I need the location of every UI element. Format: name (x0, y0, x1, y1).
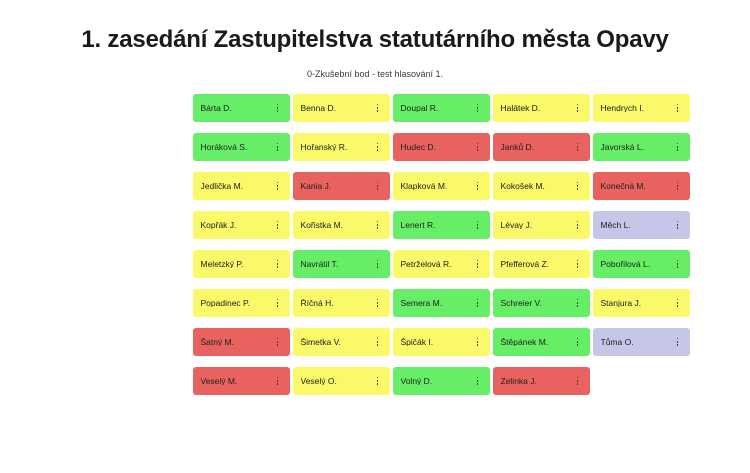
kebab-menu-icon[interactable] (273, 295, 283, 311)
kebab-menu-icon[interactable] (373, 334, 383, 350)
kebab-menu-icon[interactable] (373, 373, 383, 389)
agenda-item-subtitle: 0-Zkušební bod - test hlasování 1. (0, 55, 750, 79)
member-vote-card[interactable]: Špičák I. (393, 328, 490, 356)
member-name: Konečná M. (601, 182, 646, 191)
member-name: Kokošek M. (501, 182, 545, 191)
kebab-menu-icon[interactable] (573, 139, 583, 155)
kebab-menu-icon[interactable] (273, 256, 283, 272)
member-name: Pfefferová Z. (501, 260, 550, 269)
member-name: Benna D. (301, 104, 336, 113)
kebab-menu-icon[interactable] (473, 295, 483, 311)
member-name: Zelinka J. (501, 377, 537, 386)
member-vote-card[interactable]: Schreier V. (493, 289, 590, 317)
member-vote-card[interactable]: Halátek D. (493, 94, 590, 122)
member-vote-card[interactable]: Šatný M. (193, 328, 290, 356)
member-name: Štěpánek M. (501, 338, 549, 347)
member-name: Semera M. (401, 299, 443, 308)
member-vote-card[interactable]: Kania J. (293, 172, 390, 200)
kebab-menu-icon[interactable] (373, 139, 383, 155)
member-name: Kořistka M. (301, 221, 344, 230)
member-name: Klapková M. (401, 182, 448, 191)
member-name: Navrátil T. (301, 260, 339, 269)
member-name: Hudec D. (401, 143, 436, 152)
kebab-menu-icon[interactable] (273, 334, 283, 350)
member-vote-card[interactable]: Horáková S. (193, 133, 290, 161)
kebab-menu-icon[interactable] (673, 295, 683, 311)
member-vote-card[interactable]: Říčná H. (293, 289, 390, 317)
member-vote-card[interactable]: Semera M. (393, 289, 490, 317)
member-name: Lévay J. (501, 221, 533, 230)
kebab-menu-icon[interactable] (573, 256, 583, 272)
member-name: Jedlička M. (201, 182, 244, 191)
member-vote-card[interactable]: Benna D. (293, 94, 390, 122)
member-vote-card[interactable]: Doupal R. (393, 94, 490, 122)
member-vote-card[interactable]: Popadinec P. (193, 289, 290, 317)
kebab-menu-icon[interactable] (473, 256, 483, 272)
member-vote-card[interactable]: Kořistka M. (293, 211, 390, 239)
kebab-menu-icon[interactable] (673, 100, 683, 116)
member-vote-card[interactable]: Zelinka J. (493, 367, 590, 395)
kebab-menu-icon[interactable] (573, 295, 583, 311)
page-header: 1. zasedání Zastupitelstva statutárního … (0, 0, 750, 79)
member-vote-card[interactable]: Volný D. (393, 367, 490, 395)
page-title: 1. zasedání Zastupitelstva statutárního … (0, 26, 750, 55)
member-name: Janků D. (501, 143, 535, 152)
member-vote-card[interactable]: Meletzký P. (193, 250, 290, 278)
member-name: Halátek D. (501, 104, 541, 113)
kebab-menu-icon[interactable] (473, 373, 483, 389)
kebab-menu-icon[interactable] (473, 100, 483, 116)
member-vote-card[interactable]: Hudec D. (393, 133, 490, 161)
member-vote-card[interactable]: Klapková M. (393, 172, 490, 200)
member-name: Tůma O. (601, 338, 634, 347)
member-name: Kopřák J. (201, 221, 237, 230)
member-vote-card[interactable]: Stanjura J. (593, 289, 690, 317)
member-name: Hendrych I. (601, 104, 644, 113)
kebab-menu-icon[interactable] (573, 178, 583, 194)
kebab-menu-icon[interactable] (673, 217, 683, 233)
member-name: Volný D. (401, 377, 433, 386)
kebab-menu-icon[interactable] (473, 178, 483, 194)
member-vote-card[interactable]: Štěpánek M. (493, 328, 590, 356)
member-name: Schreier V. (501, 299, 542, 308)
member-vote-card[interactable]: Jedlička M. (193, 172, 290, 200)
kebab-menu-icon[interactable] (273, 100, 283, 116)
kebab-menu-icon[interactable] (273, 217, 283, 233)
member-vote-card[interactable]: Kokošek M. (493, 172, 590, 200)
kebab-menu-icon[interactable] (373, 100, 383, 116)
member-vote-card[interactable]: Bárta D. (193, 94, 290, 122)
voting-grid-wrapper: Bárta D.Benna D.Doupal R.Halátek D.Hendr… (0, 79, 750, 395)
member-vote-card[interactable]: Šimetka V. (293, 328, 390, 356)
kebab-menu-icon[interactable] (273, 139, 283, 155)
member-vote-card[interactable]: Měch L. (593, 211, 690, 239)
member-name: Lenert R. (401, 221, 436, 230)
member-vote-card[interactable]: Pfefferová Z. (493, 250, 590, 278)
member-vote-card[interactable]: Hořanský R. (293, 133, 390, 161)
member-vote-card[interactable]: Kopřák J. (193, 211, 290, 239)
kebab-menu-icon[interactable] (573, 217, 583, 233)
member-name: Stanjura J. (601, 299, 642, 308)
member-vote-card[interactable]: Lenert R. (393, 211, 490, 239)
kebab-menu-icon[interactable] (573, 334, 583, 350)
member-name: Veselý M. (201, 377, 238, 386)
member-vote-card[interactable]: Navrátil T. (293, 250, 390, 278)
member-name: Říčná H. (301, 299, 334, 308)
member-vote-card[interactable]: Tůma O. (593, 328, 690, 356)
kebab-menu-icon[interactable] (673, 256, 683, 272)
kebab-menu-icon[interactable] (273, 373, 283, 389)
member-vote-card[interactable]: Petrželová R. (393, 250, 490, 278)
member-vote-card[interactable]: Pobořilová L. (593, 250, 690, 278)
member-name: Šatný M. (201, 338, 235, 347)
kebab-menu-icon[interactable] (673, 139, 683, 155)
kebab-menu-icon[interactable] (373, 256, 383, 272)
member-vote-card[interactable]: Lévay J. (493, 211, 590, 239)
kebab-menu-icon[interactable] (373, 178, 383, 194)
member-name: Špičák I. (401, 338, 434, 347)
member-vote-card[interactable]: Janků D. (493, 133, 590, 161)
member-name: Bárta D. (201, 104, 232, 113)
voting-results-page: 1. zasedání Zastupitelstva statutárního … (0, 0, 750, 473)
member-vote-card[interactable]: Hendrych I. (593, 94, 690, 122)
member-name: Petrželová R. (401, 260, 452, 269)
kebab-menu-icon[interactable] (273, 178, 283, 194)
member-vote-card[interactable]: Veselý M. (193, 367, 290, 395)
kebab-menu-icon[interactable] (373, 217, 383, 233)
kebab-menu-icon[interactable] (373, 295, 383, 311)
member-name: Meletzký P. (201, 260, 244, 269)
member-name: Doupal R. (401, 104, 439, 113)
kebab-menu-icon[interactable] (473, 139, 483, 155)
member-name: Javorská L. (601, 143, 644, 152)
kebab-menu-icon[interactable] (573, 373, 583, 389)
member-name: Popadinec P. (201, 299, 250, 308)
member-vote-card[interactable]: Javorská L. (593, 133, 690, 161)
member-name: Veselý O. (301, 377, 337, 386)
kebab-menu-icon[interactable] (473, 217, 483, 233)
member-name: Měch L. (601, 221, 631, 230)
kebab-menu-icon[interactable] (673, 178, 683, 194)
member-vote-card[interactable]: Veselý O. (293, 367, 390, 395)
member-name: Pobořilová L. (601, 260, 651, 269)
member-vote-card[interactable]: Konečná M. (593, 172, 690, 200)
kebab-menu-icon[interactable] (473, 334, 483, 350)
member-name: Kania J. (301, 182, 332, 191)
member-name: Šimetka V. (301, 338, 341, 347)
member-name: Hořanský R. (301, 143, 348, 152)
kebab-menu-icon[interactable] (673, 334, 683, 350)
member-vote-grid: Bárta D.Benna D.Doupal R.Halátek D.Hendr… (58, 79, 693, 395)
kebab-menu-icon[interactable] (573, 100, 583, 116)
member-name: Horáková S. (201, 143, 248, 152)
